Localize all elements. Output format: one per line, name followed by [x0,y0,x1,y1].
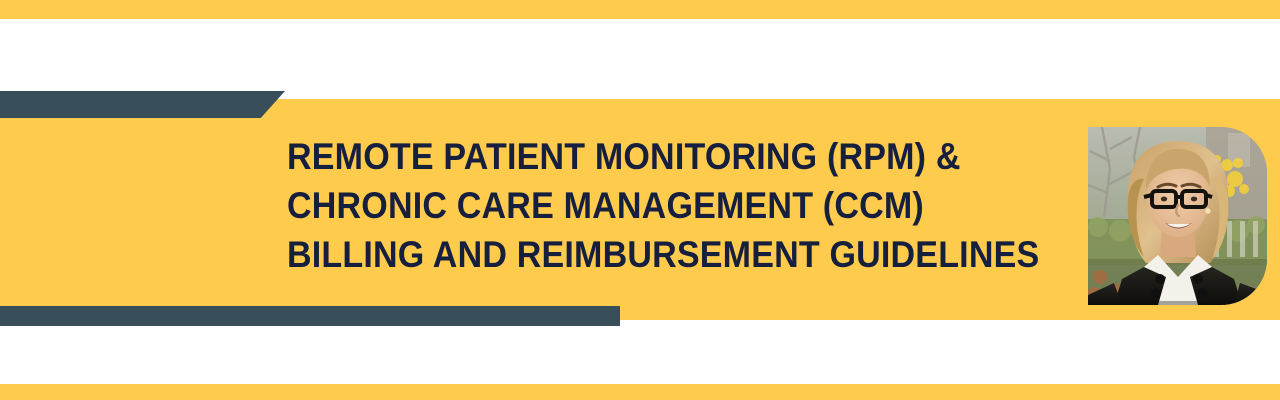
page-title-line-3: BILLING AND REIMBURSEMENT GUIDELINES [287,230,986,279]
page-title-line-2: CHRONIC CARE MANAGEMENT (CCM) [287,181,986,230]
presenter-photo [1088,127,1267,305]
page-title: REMOTE PATIENT MONITORING (RPM) & CHRONI… [287,132,1047,279]
top-left-slate-tab [0,91,285,118]
presenter-photo-image [1088,127,1267,305]
bottom-accent-rule [0,384,1280,400]
bottom-left-slate-bar [0,306,620,326]
top-accent-rule [0,0,1280,19]
page-title-line-1: REMOTE PATIENT MONITORING (RPM) & [287,132,986,181]
webinar-title-banner: REMOTE PATIENT MONITORING (RPM) & CHRONI… [0,0,1280,400]
